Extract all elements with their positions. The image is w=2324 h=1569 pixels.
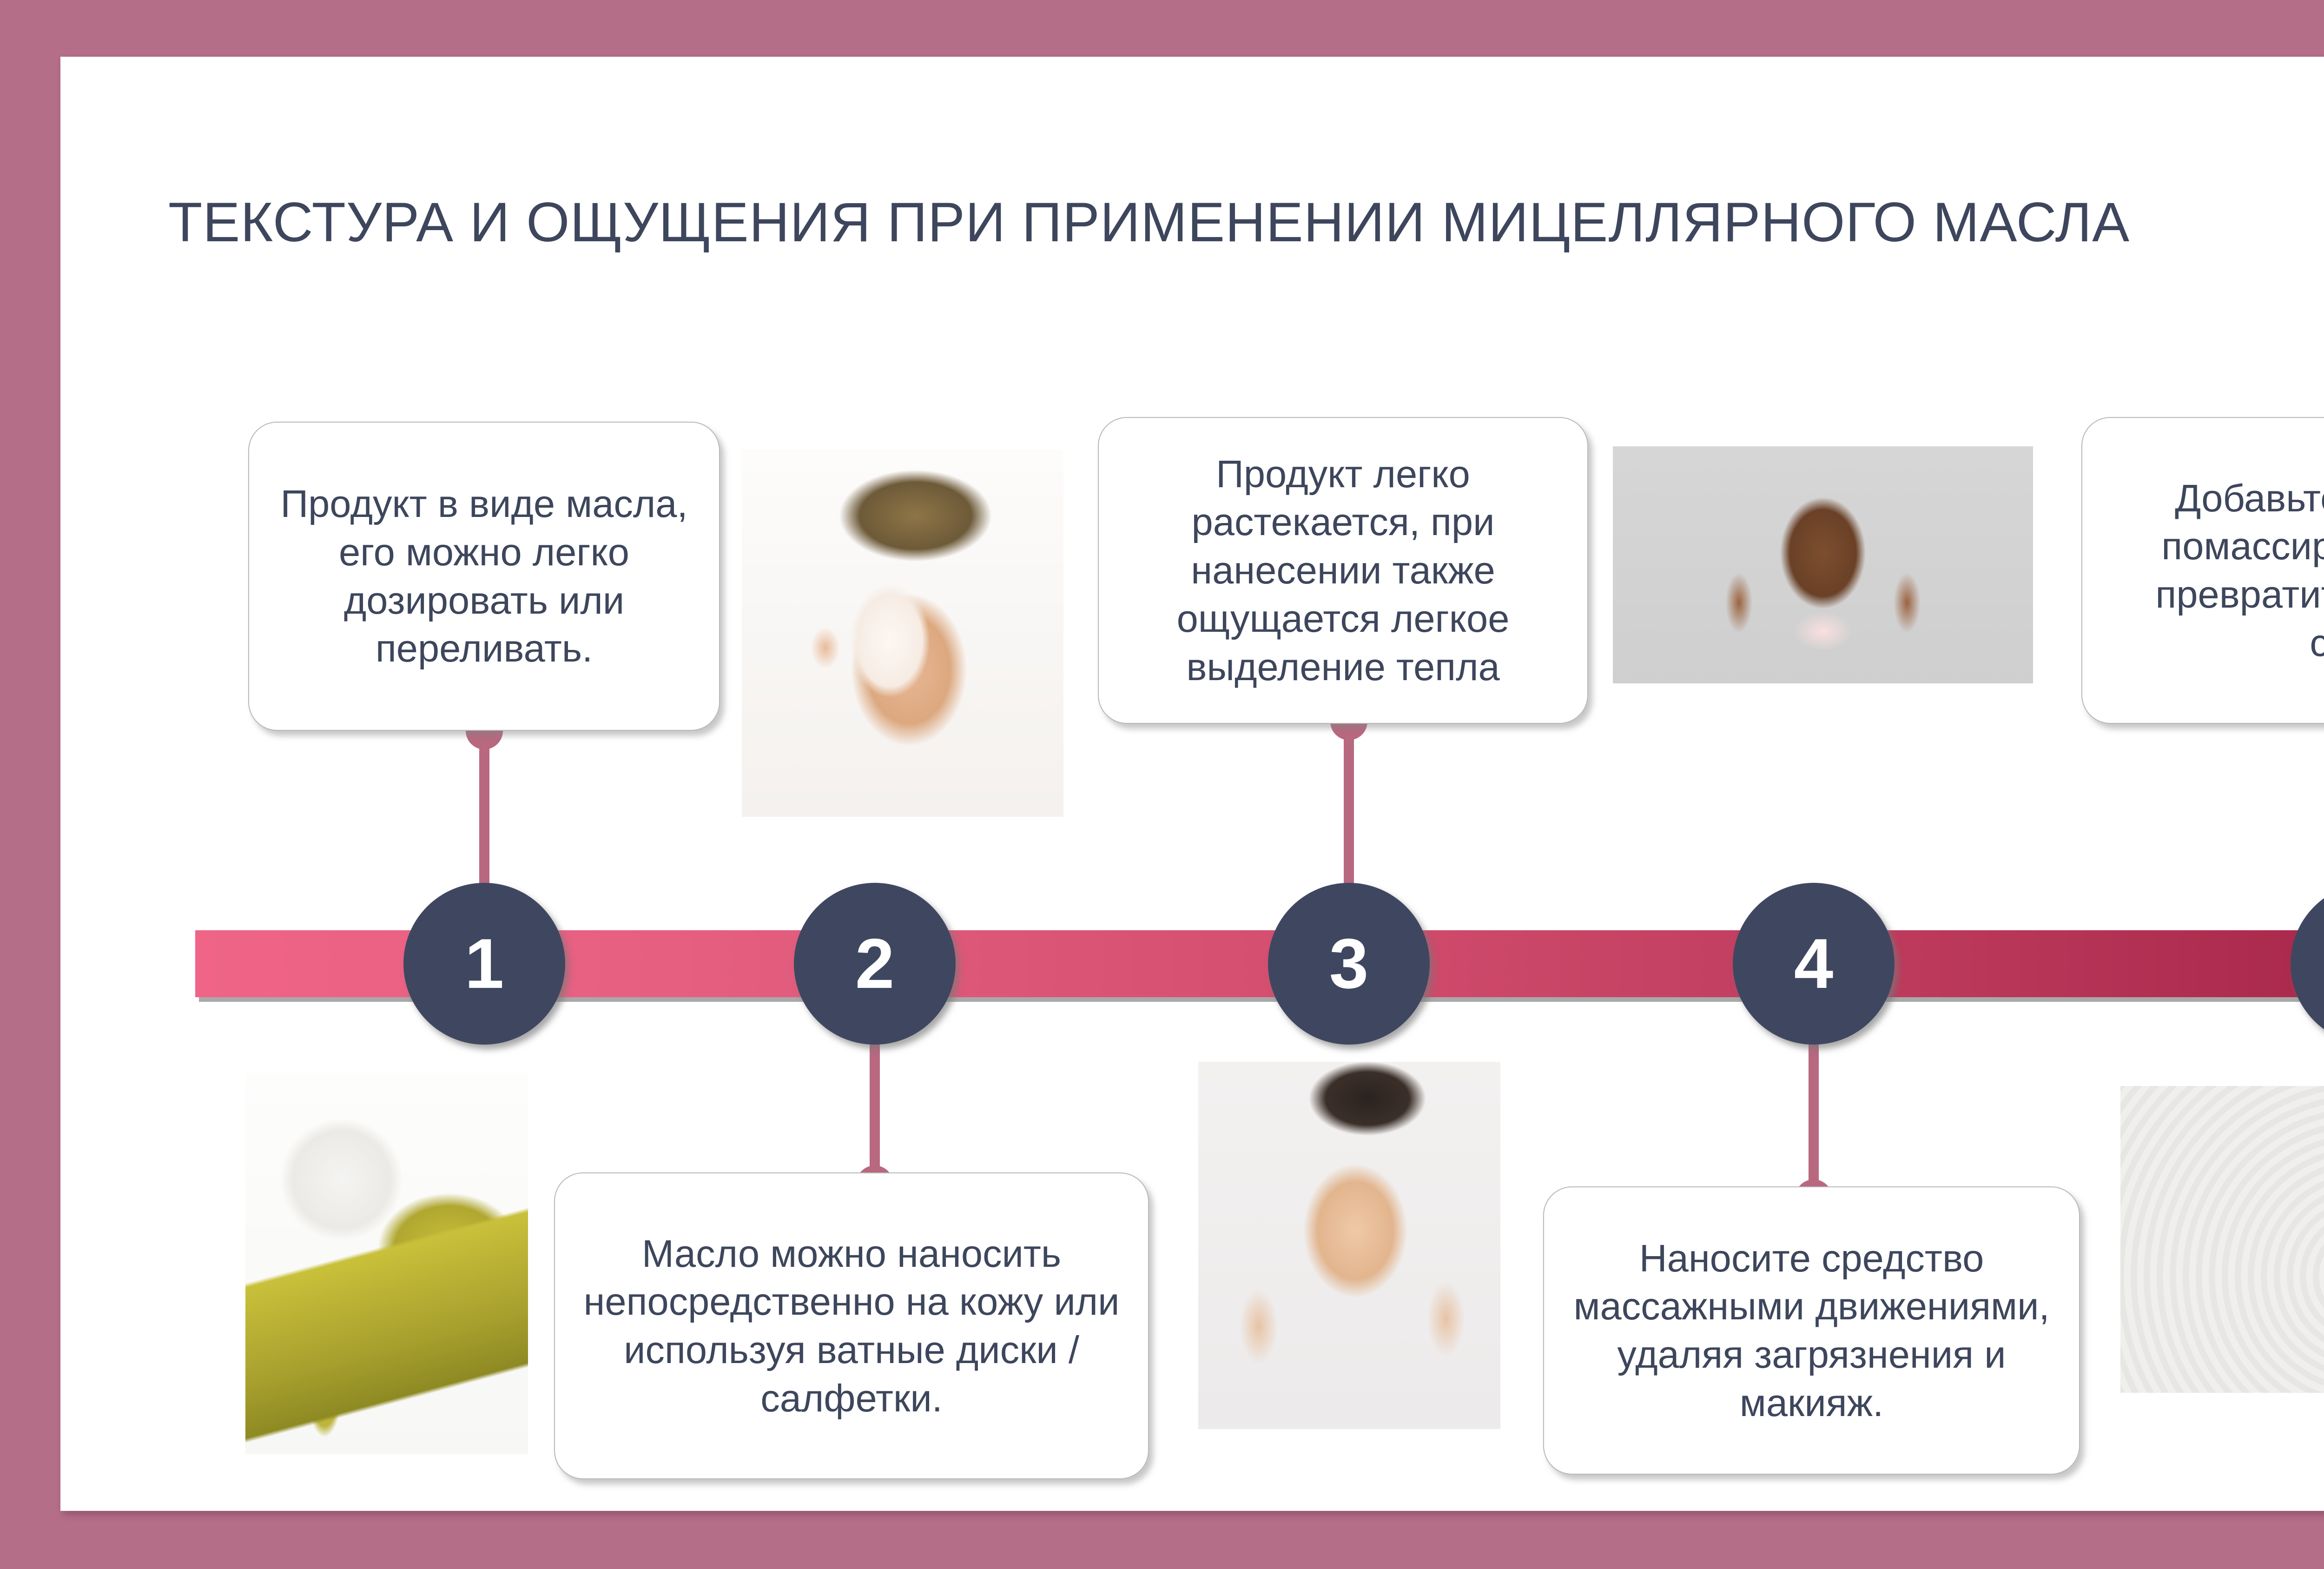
step-textbox-4[interactable]: Наносите средство массажными движениями,… [1543,1186,2080,1475]
step-textbox-2-text: Масло можно наносить непосредственно на … [574,1230,1129,1423]
step-textbox-2[interactable]: Масло можно наносить непосредственно на … [554,1172,1149,1479]
step-textbox-1-text: Продукт в виде масла, его можно легко до… [268,480,700,673]
photo-asian-woman-applying-cream-image [1198,1062,1500,1429]
slide-canvas: ТЕКСТУРА И ОЩУЩЕНИЯ ПРИ ПРИМЕНЕНИИ МИЦЕЛ… [0,0,2324,1569]
photo-milk-splash [2120,1086,2324,1393]
photo-asian-woman-applying-cream [1198,1062,1500,1429]
photo-milk-splash-image [2120,1086,2324,1393]
step-circle-3-number: 3 [1329,928,1369,999]
photo-woman-cotton-pad-eye-image [742,450,1063,817]
photo-man-massaging-face-image [1613,446,2033,683]
photo-man-massaging-face [1613,446,2033,683]
step-circle-4-number: 4 [1794,928,1834,999]
step-textbox-5[interactable]: Добавьте теплую воду, помассируйте, сред… [2081,417,2324,724]
step-circle-4[interactable]: 4 [1733,883,1895,1045]
slide-card: ТЕКСТУРА И ОЩУЩЕНИЯ ПРИ ПРИМЕНЕНИИ МИЦЕЛ… [60,57,2324,1511]
step-circle-1[interactable]: 1 [403,883,565,1045]
photo-woman-cotton-pad-eye [742,450,1063,817]
photo-olive-oil-pouring [245,1073,528,1454]
step-textbox-3[interactable]: Продукт легко растекается, при нанесении… [1098,417,1588,724]
step-circle-2[interactable]: 2 [794,883,956,1045]
step-textbox-5-text: Добавьте теплую воду, помассируйте, сред… [2101,474,2324,667]
page-title: ТЕКСТУРА И ОЩУЩЕНИЯ ПРИ ПРИМЕНЕНИИ МИЦЕЛ… [168,192,2324,253]
step-textbox-3-text: Продукт легко растекается, при нанесении… [1117,450,1569,691]
step-circle-2-number: 2 [855,928,895,999]
step-textbox-1[interactable]: Продукт в виде масла, его можно легко до… [248,422,720,731]
photo-olive-oil-pouring-image [245,1073,528,1454]
step-textbox-4-text: Наносите средство массажными движениями,… [1563,1234,2060,1427]
step-circle-3[interactable]: 3 [1268,883,1430,1045]
step-circle-1-number: 1 [465,928,504,999]
